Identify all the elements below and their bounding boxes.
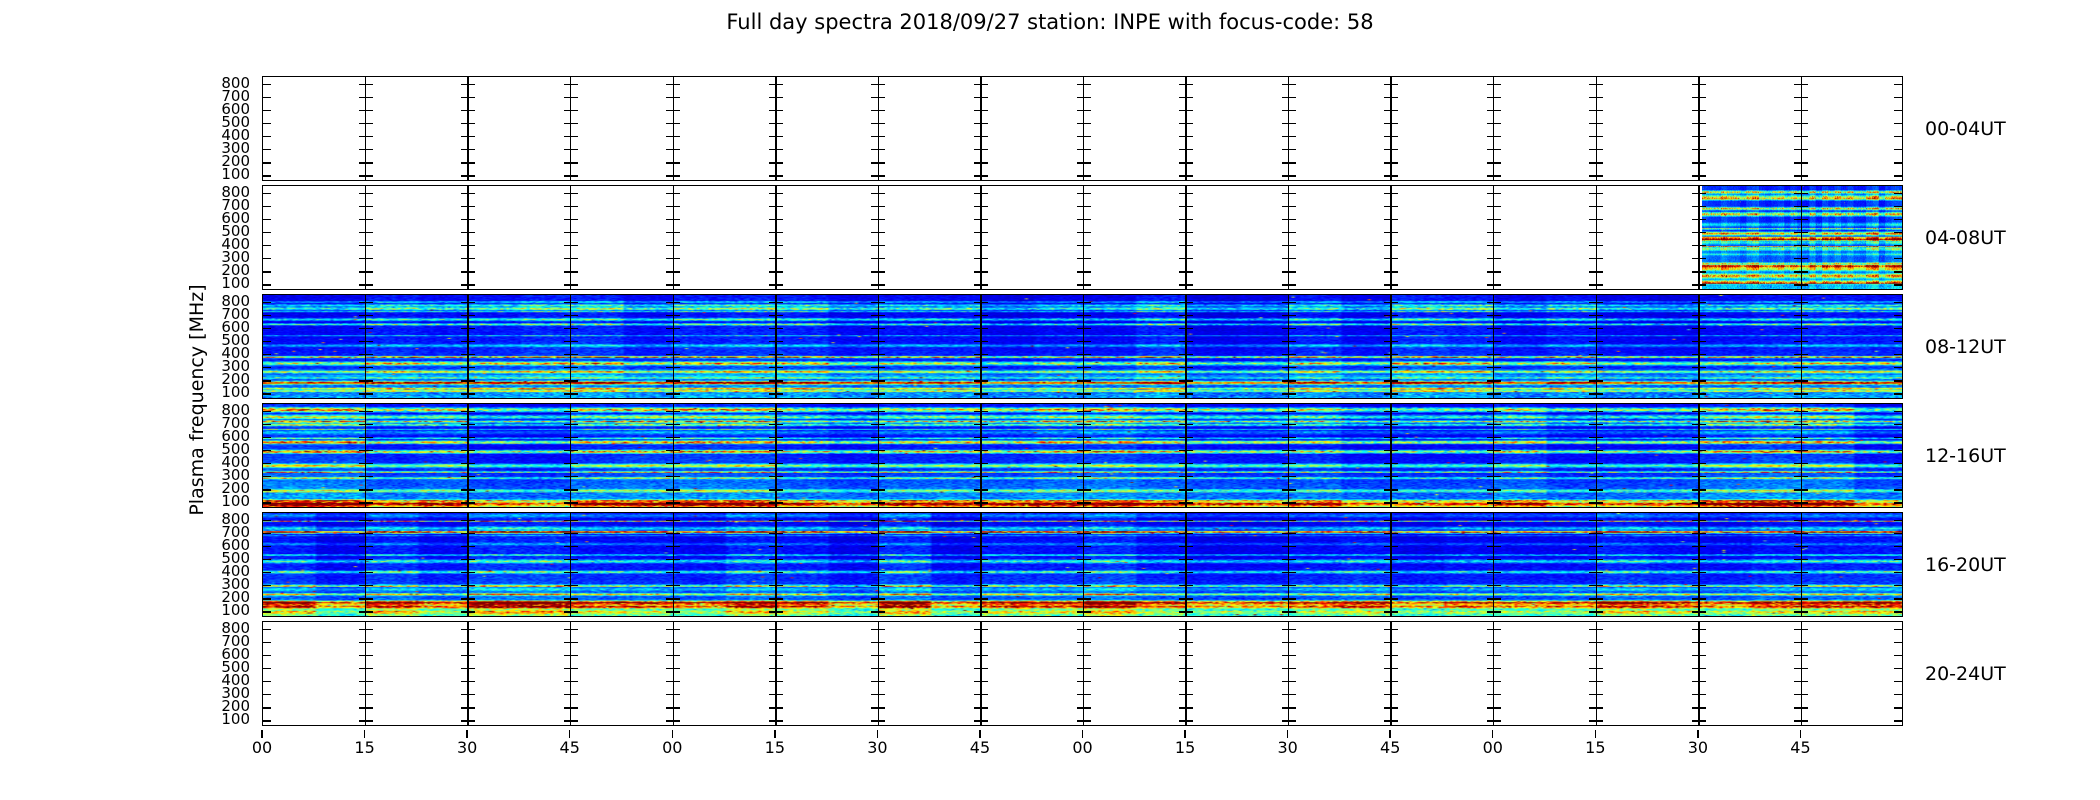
- y-tick-mark: [263, 707, 271, 708]
- grid-tick-mark: [461, 284, 475, 285]
- grid-tick-mark: [1077, 110, 1091, 111]
- vertical-gridline: [1390, 622, 1391, 725]
- y-tick-label: 100: [221, 713, 250, 725]
- grid-tick-mark: [461, 642, 475, 643]
- grid-tick-mark: [1282, 97, 1296, 98]
- grid-tick-mark: [769, 245, 783, 246]
- grid-tick-mark: [974, 655, 988, 656]
- grid-tick-mark: [1179, 655, 1193, 656]
- y-tick-mark: [263, 84, 271, 85]
- grid-tick-mark: [769, 219, 783, 220]
- grid-tick-mark: [461, 206, 475, 207]
- grid-tick-mark: [461, 668, 475, 669]
- panel-plot-area: [263, 77, 1902, 180]
- grid-tick-mark: [461, 245, 475, 246]
- grid-tick-mark: [1077, 668, 1091, 669]
- y-tick-mark: [1894, 720, 1902, 721]
- x-tick-mark: [774, 730, 775, 738]
- grid-tick-mark: [1282, 110, 1296, 111]
- grid-tick-mark: [1487, 136, 1501, 137]
- y-tick-mark: [263, 258, 271, 259]
- y-tick-mark: [1894, 149, 1902, 150]
- grid-tick-mark: [1179, 219, 1193, 220]
- panel-plot-area: [263, 295, 1902, 398]
- grid-tick-mark: [1077, 123, 1091, 124]
- vertical-gridline: [570, 622, 571, 725]
- grid-tick-mark: [1589, 162, 1603, 163]
- grid-tick-mark: [666, 175, 680, 176]
- grid-tick-mark: [1692, 175, 1706, 176]
- y-tick-mark: [263, 271, 271, 272]
- vertical-gridline: [1698, 622, 1699, 725]
- grid-tick-mark: [1384, 668, 1398, 669]
- grid-tick-mark: [666, 681, 680, 682]
- grid-tick-mark: [359, 629, 373, 630]
- y-tick-mark: [1894, 655, 1902, 656]
- grid-tick-mark: [1384, 655, 1398, 656]
- grid-tick-mark: [1179, 162, 1193, 163]
- x-tick-mark: [261, 730, 262, 738]
- x-tick-mark: [1389, 730, 1390, 738]
- grid-tick-mark: [1179, 681, 1193, 682]
- grid-tick-mark: [1384, 136, 1398, 137]
- spectrogram-panel-12-16ut[interactable]: [262, 403, 1903, 508]
- grid-tick-mark: [974, 707, 988, 708]
- x-tick-mark: [466, 730, 467, 738]
- x-tick-label: 45: [1790, 738, 1810, 757]
- x-tick-mark: [1492, 730, 1493, 738]
- grid-tick-mark: [769, 284, 783, 285]
- grid-tick-mark: [974, 175, 988, 176]
- grid-tick-mark: [1282, 271, 1296, 272]
- panel-stack: [262, 76, 1903, 730]
- spectrogram-panel-20-24ut[interactable]: [262, 621, 1903, 726]
- y-tick-mark: [263, 284, 271, 285]
- grid-tick-mark: [974, 110, 988, 111]
- vertical-gridline: [570, 186, 571, 289]
- grid-tick-mark: [974, 668, 988, 669]
- x-tick-label: 00: [1483, 738, 1503, 757]
- grid-tick-mark: [1282, 193, 1296, 194]
- y-tick-mark: [263, 694, 271, 695]
- grid-tick-mark: [1487, 681, 1501, 682]
- grid-tick-mark: [1384, 110, 1398, 111]
- grid-tick-mark: [871, 136, 885, 137]
- y-tick-mark: [1894, 694, 1902, 695]
- grid-tick-mark: [1077, 720, 1091, 721]
- vertical-gridline: [1185, 186, 1186, 289]
- grid-tick-mark: [769, 655, 783, 656]
- grid-tick-mark: [359, 206, 373, 207]
- grid-tick-mark: [359, 284, 373, 285]
- spectrogram-panel-08-12ut[interactable]: [262, 294, 1903, 399]
- grid-tick-mark: [359, 162, 373, 163]
- grid-tick-mark: [1589, 707, 1603, 708]
- grid-tick-mark: [1589, 206, 1603, 207]
- grid-tick-mark: [1179, 206, 1193, 207]
- grid-tick-mark: [1282, 206, 1296, 207]
- grid-tick-mark: [666, 84, 680, 85]
- y-tick-mark: [1894, 668, 1902, 669]
- grid-tick-mark: [871, 681, 885, 682]
- x-tick-mark: [979, 730, 980, 738]
- grid-tick-mark: [1794, 642, 1808, 643]
- vertical-gridline: [570, 77, 571, 180]
- grid-tick-mark: [666, 642, 680, 643]
- grid-tick-mark: [1077, 97, 1091, 98]
- spectrogram-image: [263, 295, 1902, 398]
- grid-tick-mark: [871, 123, 885, 124]
- grid-tick-mark: [461, 258, 475, 259]
- grid-tick-mark: [461, 110, 475, 111]
- grid-tick-mark: [974, 720, 988, 721]
- vertical-gridline: [1801, 622, 1802, 725]
- grid-tick-mark: [769, 642, 783, 643]
- grid-tick-mark: [1487, 642, 1501, 643]
- grid-tick-mark: [461, 232, 475, 233]
- grid-tick-mark: [1589, 175, 1603, 176]
- grid-tick-mark: [871, 149, 885, 150]
- panel-plot-area: [263, 186, 1902, 289]
- grid-tick-mark: [359, 258, 373, 259]
- grid-tick-mark: [871, 694, 885, 695]
- grid-tick-mark: [1179, 232, 1193, 233]
- grid-tick-mark: [461, 136, 475, 137]
- grid-tick-mark: [974, 642, 988, 643]
- vertical-gridline: [365, 77, 366, 180]
- y-tick-mark: [1894, 136, 1902, 137]
- x-tick-mark: [1287, 730, 1288, 738]
- grid-tick-mark: [461, 271, 475, 272]
- grid-tick-mark: [1589, 136, 1603, 137]
- grid-tick-mark: [1077, 271, 1091, 272]
- grid-tick-mark: [1487, 206, 1501, 207]
- grid-tick-mark: [1077, 694, 1091, 695]
- grid-tick-mark: [871, 206, 885, 207]
- grid-tick-mark: [666, 193, 680, 194]
- grid-tick-mark: [461, 193, 475, 194]
- grid-tick-mark: [1282, 123, 1296, 124]
- grid-tick-mark: [1794, 162, 1808, 163]
- y-tick-mark: [1894, 681, 1902, 682]
- grid-tick-mark: [564, 655, 578, 656]
- row-time-label: 00-04UT: [1925, 118, 2006, 140]
- grid-tick-mark: [1282, 219, 1296, 220]
- grid-tick-mark: [1282, 84, 1296, 85]
- grid-tick-mark: [564, 707, 578, 708]
- grid-tick-mark: [461, 123, 475, 124]
- grid-tick-mark: [359, 136, 373, 137]
- grid-tick-mark: [871, 720, 885, 721]
- vertical-gridline: [878, 77, 879, 180]
- grid-tick-mark: [974, 681, 988, 682]
- grid-tick-mark: [974, 258, 988, 259]
- grid-tick-mark: [1589, 720, 1603, 721]
- grid-tick-mark: [359, 694, 373, 695]
- grid-tick-mark: [564, 694, 578, 695]
- x-tick-mark: [672, 730, 673, 738]
- grid-tick-mark: [461, 720, 475, 721]
- grid-tick-mark: [666, 694, 680, 695]
- grid-tick-mark: [974, 245, 988, 246]
- grid-tick-mark: [1794, 110, 1808, 111]
- grid-tick-mark: [1692, 97, 1706, 98]
- vertical-gridline: [365, 186, 366, 289]
- y-tick-mark: [1894, 110, 1902, 111]
- grid-tick-mark: [1589, 271, 1603, 272]
- grid-tick-mark: [1077, 136, 1091, 137]
- x-tick-label: 30: [1277, 738, 1297, 757]
- grid-tick-mark: [1487, 629, 1501, 630]
- vertical-gridline: [1493, 186, 1494, 289]
- y-tick-mark: [263, 136, 271, 137]
- grid-tick-mark: [1384, 193, 1398, 194]
- y-tick-mark: [263, 110, 271, 111]
- grid-tick-mark: [1179, 84, 1193, 85]
- grid-tick-mark: [1589, 629, 1603, 630]
- x-tick-mark: [1184, 730, 1185, 738]
- grid-tick-mark: [1487, 668, 1501, 669]
- grid-tick-mark: [1692, 123, 1706, 124]
- grid-tick-mark: [1384, 123, 1398, 124]
- grid-tick-mark: [1282, 655, 1296, 656]
- y-tick-mark: [263, 97, 271, 98]
- vertical-gridline: [775, 77, 776, 180]
- grid-tick-mark: [666, 655, 680, 656]
- grid-tick-mark: [1282, 149, 1296, 150]
- x-tick-mark: [1082, 730, 1083, 738]
- grid-tick-mark: [1692, 110, 1706, 111]
- y-tick-mark: [263, 219, 271, 220]
- grid-tick-mark: [564, 232, 578, 233]
- y-tick-label: 100: [221, 386, 250, 398]
- grid-tick-mark: [871, 271, 885, 272]
- grid-tick-mark: [1692, 629, 1706, 630]
- grid-tick-mark: [1487, 258, 1501, 259]
- grid-tick-mark: [461, 681, 475, 682]
- y-tick-mark: [263, 668, 271, 669]
- grid-tick-mark: [359, 681, 373, 682]
- grid-tick-mark: [461, 162, 475, 163]
- grid-tick-mark: [871, 707, 885, 708]
- grid-tick-mark: [1589, 642, 1603, 643]
- grid-tick-mark: [769, 149, 783, 150]
- grid-tick-mark: [769, 668, 783, 669]
- grid-tick-mark: [769, 206, 783, 207]
- grid-tick-mark: [461, 707, 475, 708]
- vertical-gridline: [467, 186, 468, 289]
- grid-tick-mark: [1589, 84, 1603, 85]
- grid-tick-mark: [1589, 219, 1603, 220]
- grid-tick-mark: [666, 629, 680, 630]
- grid-tick-mark: [1179, 629, 1193, 630]
- grid-tick-mark: [1282, 668, 1296, 669]
- grid-tick-mark: [1384, 97, 1398, 98]
- grid-tick-mark: [564, 123, 578, 124]
- x-tick-label: 15: [765, 738, 785, 757]
- grid-tick-mark: [1589, 681, 1603, 682]
- grid-tick-mark: [1179, 694, 1193, 695]
- grid-tick-mark: [666, 149, 680, 150]
- y-tick-mark: [1894, 707, 1902, 708]
- grid-tick-mark: [769, 84, 783, 85]
- grid-tick-mark: [1282, 136, 1296, 137]
- y-tick-labels-group: 800700600500400300200100: [0, 512, 258, 617]
- grid-tick-mark: [1384, 206, 1398, 207]
- vertical-gridline: [1083, 77, 1084, 180]
- grid-tick-mark: [769, 271, 783, 272]
- grid-tick-mark: [974, 84, 988, 85]
- grid-tick-mark: [1589, 110, 1603, 111]
- vertical-gridline: [1185, 622, 1186, 725]
- grid-tick-mark: [769, 136, 783, 137]
- grid-tick-mark: [1487, 707, 1501, 708]
- grid-tick-mark: [769, 175, 783, 176]
- grid-tick-mark: [1692, 642, 1706, 643]
- y-tick-labels-group: 800700600500400300200100: [0, 403, 258, 508]
- grid-tick-mark: [1384, 284, 1398, 285]
- x-tick-label: 30: [457, 738, 477, 757]
- grid-tick-mark: [359, 642, 373, 643]
- grid-tick-mark: [1384, 175, 1398, 176]
- grid-tick-mark: [666, 206, 680, 207]
- x-tick-label: 45: [560, 738, 580, 757]
- vertical-gridline: [467, 77, 468, 180]
- grid-tick-mark: [359, 232, 373, 233]
- grid-tick-mark: [666, 219, 680, 220]
- grid-tick-mark: [1589, 245, 1603, 246]
- grid-tick-mark: [564, 175, 578, 176]
- vertical-gridline: [1801, 77, 1802, 180]
- vertical-gridline: [1288, 77, 1289, 180]
- grid-tick-mark: [1179, 284, 1193, 285]
- grid-tick-mark: [1077, 84, 1091, 85]
- grid-tick-mark: [974, 271, 988, 272]
- vertical-gridline: [673, 77, 674, 180]
- grid-tick-mark: [564, 642, 578, 643]
- vertical-gridline: [1493, 622, 1494, 725]
- panel-plot-area: [263, 404, 1902, 507]
- grid-tick-mark: [769, 123, 783, 124]
- grid-tick-mark: [1794, 694, 1808, 695]
- grid-tick-mark: [1487, 245, 1501, 246]
- grid-tick-mark: [359, 720, 373, 721]
- spectrogram-panel-04-08ut[interactable]: [262, 185, 1903, 290]
- row-time-label: 16-20UT: [1925, 554, 2006, 576]
- grid-tick-mark: [1794, 655, 1808, 656]
- grid-tick-mark: [461, 219, 475, 220]
- spectrogram-panel-00-04ut[interactable]: [262, 76, 1903, 181]
- vertical-gridline: [673, 186, 674, 289]
- grid-tick-mark: [564, 271, 578, 272]
- grid-tick-mark: [1589, 655, 1603, 656]
- y-tick-mark: [1894, 123, 1902, 124]
- grid-tick-mark: [1384, 629, 1398, 630]
- grid-tick-mark: [871, 162, 885, 163]
- y-tick-mark: [263, 206, 271, 207]
- vertical-gridline: [1596, 77, 1597, 180]
- x-tick-mark: [1800, 730, 1801, 738]
- grid-tick-mark: [1384, 245, 1398, 246]
- grid-tick-mark: [1487, 97, 1501, 98]
- grid-tick-mark: [1692, 162, 1706, 163]
- grid-tick-mark: [974, 136, 988, 137]
- grid-tick-mark: [1487, 720, 1501, 721]
- spectrogram-image: [1702, 186, 1902, 289]
- grid-tick-mark: [974, 629, 988, 630]
- grid-tick-mark: [1692, 694, 1706, 695]
- grid-tick-mark: [359, 149, 373, 150]
- grid-tick-mark: [1692, 655, 1706, 656]
- grid-tick-mark: [1692, 149, 1706, 150]
- grid-tick-mark: [564, 629, 578, 630]
- grid-tick-mark: [666, 284, 680, 285]
- grid-tick-mark: [1487, 162, 1501, 163]
- y-tick-mark: [263, 655, 271, 656]
- vertical-gridline: [878, 622, 879, 725]
- grid-tick-mark: [1282, 681, 1296, 682]
- grid-tick-mark: [564, 284, 578, 285]
- y-tick-mark: [1894, 175, 1902, 176]
- grid-tick-mark: [871, 84, 885, 85]
- vertical-gridline: [1288, 622, 1289, 725]
- grid-tick-mark: [1384, 694, 1398, 695]
- grid-tick-mark: [666, 162, 680, 163]
- vertical-gridline: [775, 622, 776, 725]
- grid-tick-mark: [1077, 232, 1091, 233]
- grid-tick-mark: [359, 175, 373, 176]
- grid-tick-mark: [1282, 258, 1296, 259]
- vertical-gridline: [980, 186, 981, 289]
- grid-tick-mark: [564, 219, 578, 220]
- grid-tick-mark: [871, 110, 885, 111]
- x-tick-mark: [1697, 730, 1698, 738]
- grid-tick-mark: [974, 193, 988, 194]
- vertical-gridline: [1083, 622, 1084, 725]
- grid-tick-mark: [1179, 193, 1193, 194]
- y-tick-mark: [1894, 162, 1902, 163]
- y-tick-label: 100: [221, 277, 250, 289]
- grid-tick-mark: [461, 655, 475, 656]
- panel-plot-area: [263, 622, 1902, 725]
- grid-tick-mark: [769, 681, 783, 682]
- vertical-gridline: [673, 622, 674, 725]
- grid-tick-mark: [1077, 629, 1091, 630]
- grid-tick-mark: [871, 258, 885, 259]
- spectrogram-panel-16-20ut[interactable]: [262, 512, 1903, 617]
- grid-tick-mark: [974, 149, 988, 150]
- grid-tick-mark: [1282, 694, 1296, 695]
- grid-tick-mark: [666, 232, 680, 233]
- grid-tick-mark: [871, 668, 885, 669]
- grid-tick-mark: [1692, 720, 1706, 721]
- grid-tick-mark: [461, 629, 475, 630]
- grid-tick-mark: [1794, 123, 1808, 124]
- grid-tick-mark: [1794, 175, 1808, 176]
- grid-tick-mark: [1077, 655, 1091, 656]
- grid-tick-mark: [1384, 271, 1398, 272]
- grid-tick-mark: [666, 707, 680, 708]
- y-tick-mark: [1894, 642, 1902, 643]
- grid-tick-mark: [1179, 258, 1193, 259]
- grid-tick-mark: [564, 136, 578, 137]
- grid-tick-mark: [1179, 642, 1193, 643]
- y-tick-mark: [263, 162, 271, 163]
- grid-tick-mark: [1282, 245, 1296, 246]
- grid-tick-mark: [769, 232, 783, 233]
- y-tick-mark: [263, 193, 271, 194]
- grid-tick-mark: [974, 162, 988, 163]
